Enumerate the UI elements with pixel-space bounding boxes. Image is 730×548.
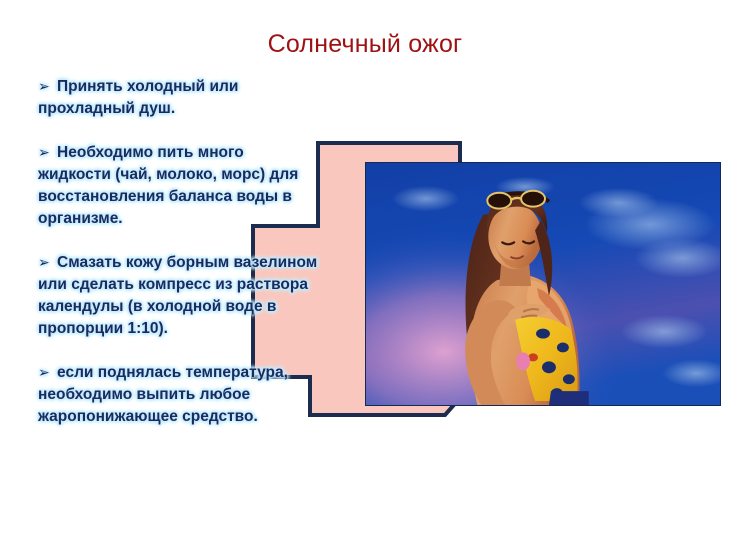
bullet-arrow-icon: ➢ (38, 78, 53, 94)
bullet-line: ➢ Принять холодный или (38, 76, 388, 98)
bullet-line: ➢ Необходимо пить много (38, 142, 388, 164)
bullet-line-text: Принять холодный или (53, 78, 239, 95)
list-item: ➢ Необходимо пить много жидкости (чай, м… (38, 142, 388, 230)
slide-canvas: Солнечный ожог (0, 0, 730, 548)
bullet-arrow-icon: ➢ (38, 254, 53, 270)
bullet-line-text: восстановления баланса воды в (38, 186, 388, 208)
list-item: ➢ Принять холодный или прохладный душ. (38, 76, 388, 120)
bullet-line: ➢ Смазать кожу борным вазелином (38, 252, 388, 274)
bullet-line-text: организме. (38, 208, 388, 230)
bullet-line-text: жидкости (чай, молоко, морс) для (38, 164, 388, 186)
bullet-arrow-icon: ➢ (38, 364, 53, 380)
bullet-line-text: Смазать кожу борным вазелином (53, 254, 317, 271)
bullet-line-text: календулы (в холодной воде в (38, 296, 388, 318)
bullet-line-text: Необходимо пить много (53, 144, 244, 161)
bullet-line-text: пропорции 1:10). (38, 318, 388, 340)
bullet-arrow-icon: ➢ (38, 144, 53, 160)
bullet-list: ➢ Принять холодный или прохладный душ. ➢… (38, 76, 388, 428)
list-item: ➢ Смазать кожу борным вазелином или сдел… (38, 252, 388, 340)
bullet-line-text: необходимо выпить любое (38, 384, 388, 406)
bullet-line-text: прохладный душ. (38, 98, 388, 120)
bullet-line: ➢ если поднялась температура, (38, 362, 388, 384)
list-item: ➢ если поднялась температура, необходимо… (38, 362, 388, 428)
bullet-line-text: если поднялась температура, (53, 364, 288, 381)
page-title: Солнечный ожог (0, 30, 730, 59)
sunburn-photo-svg (366, 163, 720, 405)
bullet-line-text: жаропонижающее средство. (38, 406, 388, 428)
bullet-line-text: или сделать компресс из раствора (38, 274, 388, 296)
sunburn-photo (365, 162, 721, 406)
